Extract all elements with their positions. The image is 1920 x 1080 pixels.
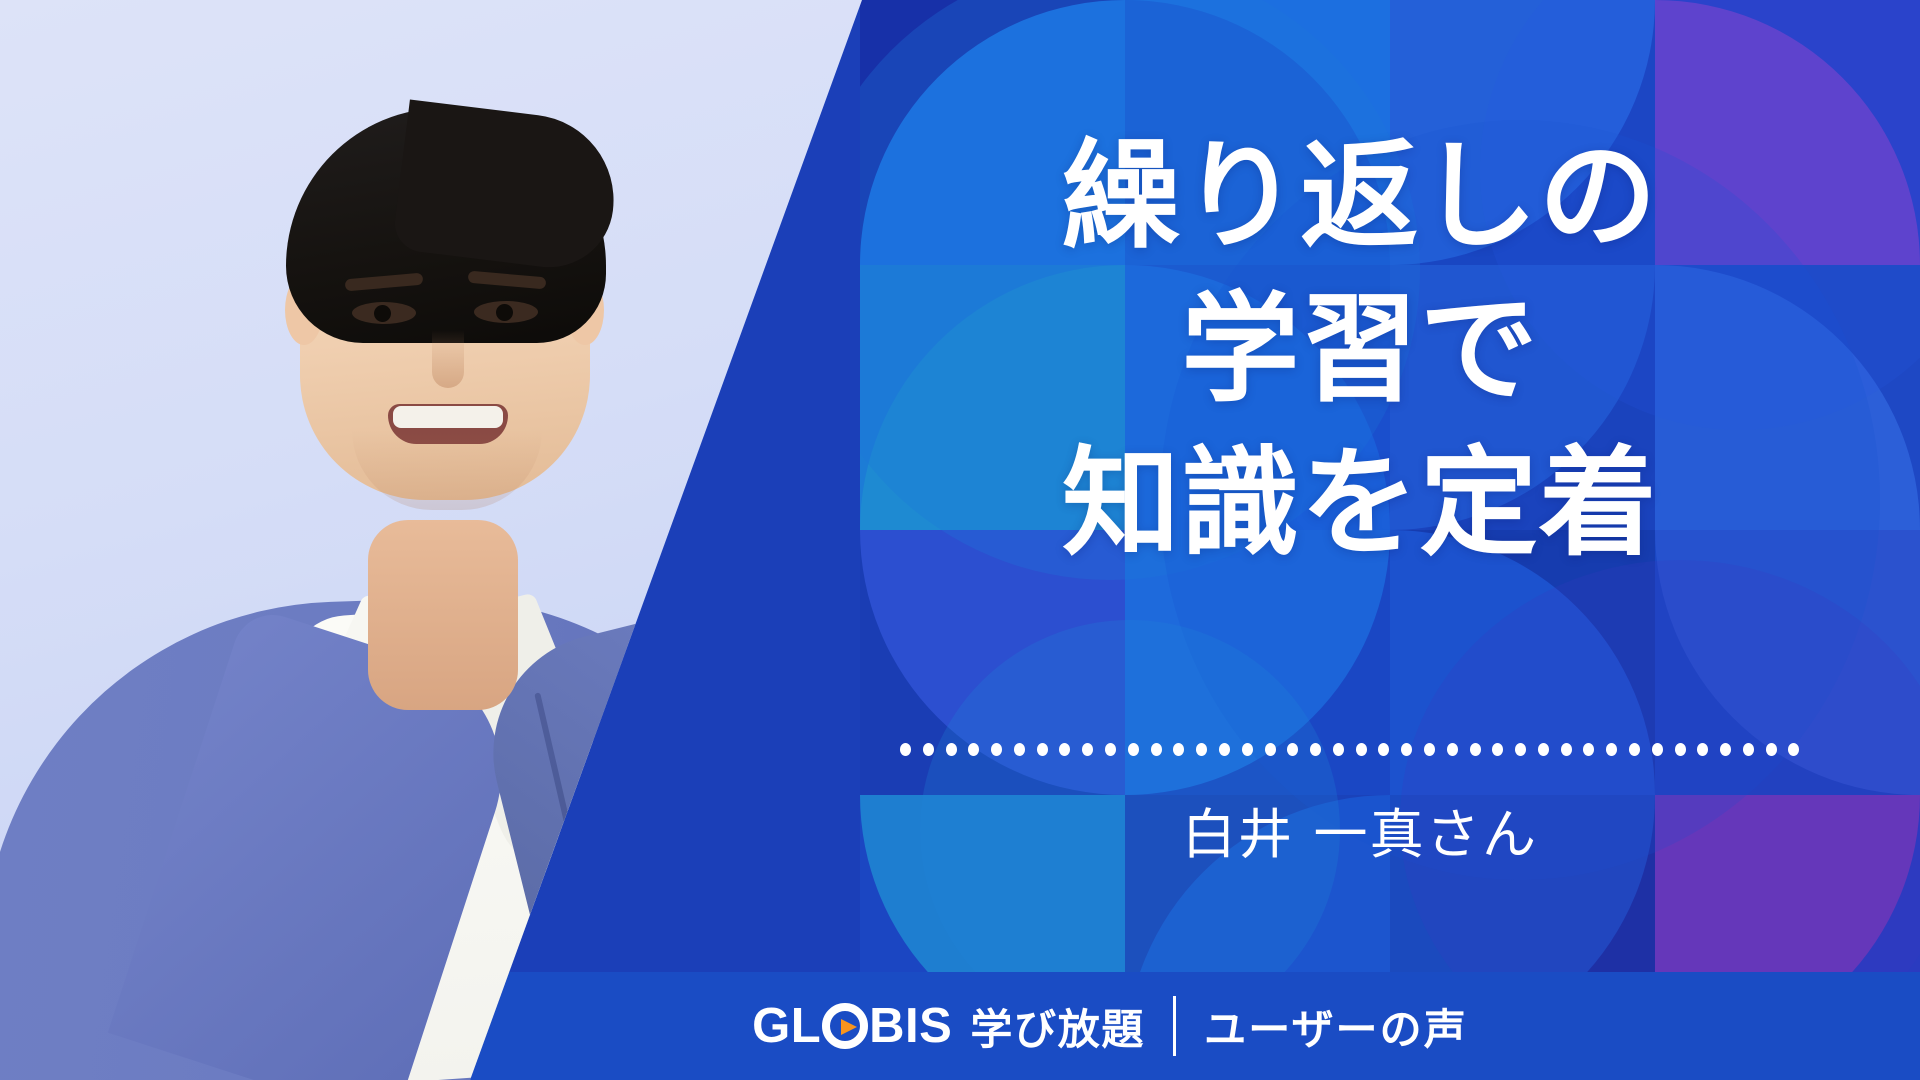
divider-dot bbox=[1606, 743, 1617, 756]
divider-dot bbox=[1219, 743, 1230, 756]
divider-dot bbox=[1515, 743, 1526, 756]
pupil-right bbox=[496, 304, 513, 321]
divider-dot bbox=[1014, 743, 1025, 756]
dotted-divider bbox=[900, 742, 1800, 756]
globis-letters-gl: GL bbox=[752, 998, 821, 1054]
divider-dot bbox=[1720, 743, 1731, 756]
globis-logo[interactable]: GL BIS 学び放題 bbox=[752, 996, 1145, 1057]
neck bbox=[368, 520, 518, 710]
divider-dot bbox=[1196, 743, 1207, 756]
hair-sweep bbox=[392, 99, 624, 274]
divider-dot bbox=[1561, 743, 1572, 756]
headline-line-2: 学習で bbox=[980, 273, 1740, 426]
person-name: 白井 一真さん bbox=[980, 790, 1740, 869]
divider-dot bbox=[1629, 743, 1640, 756]
headline-block: 繰り返しの 学習で 知識を定着 白井 一真さん bbox=[980, 0, 1740, 980]
divider-dot bbox=[1675, 743, 1686, 756]
divider-dot bbox=[1265, 743, 1276, 756]
divider-dot bbox=[1447, 743, 1458, 756]
divider-dot bbox=[1652, 743, 1663, 756]
footer-vertical-divider bbox=[1173, 996, 1176, 1056]
divider-dot bbox=[1766, 743, 1777, 756]
footer-tagline: ユーザーの声 bbox=[1204, 996, 1468, 1057]
divider-dot bbox=[1151, 743, 1162, 756]
divider-dot bbox=[1356, 743, 1367, 756]
divider-dot bbox=[1470, 743, 1481, 756]
globis-letters-bis: BIS bbox=[869, 998, 952, 1054]
banner-canvas: 繰り返しの 学習で 知識を定着 白井 一真さん GL BIS 学び放題 ユーザー… bbox=[0, 0, 1920, 1080]
divider-dot bbox=[900, 743, 911, 756]
divider-dot bbox=[968, 743, 979, 756]
divider-dot bbox=[1697, 743, 1708, 756]
divider-dot bbox=[1242, 743, 1253, 756]
pupil-left bbox=[374, 305, 391, 322]
divider-dot bbox=[1743, 743, 1754, 756]
divider-dot bbox=[991, 743, 1002, 756]
divider-dot bbox=[1333, 743, 1344, 756]
teeth bbox=[393, 406, 503, 428]
headline-line-3: 知識を定着 bbox=[980, 427, 1740, 580]
globis-jp-label: 学び放題 bbox=[970, 996, 1145, 1057]
divider-dot bbox=[1378, 743, 1389, 756]
divider-dot bbox=[1128, 743, 1139, 756]
headline: 繰り返しの 学習で 知識を定着 bbox=[980, 120, 1740, 580]
footer-content: GL BIS 学び放題 ユーザーの声 bbox=[0, 972, 1920, 1080]
divider-dot bbox=[946, 743, 957, 756]
divider-dot bbox=[1059, 743, 1070, 756]
play-button-icon bbox=[822, 1003, 868, 1049]
divider-dot bbox=[1310, 743, 1321, 756]
chin-shadow bbox=[352, 430, 542, 510]
headline-line-1: 繰り返しの bbox=[980, 120, 1740, 273]
divider-dot bbox=[923, 743, 934, 756]
divider-dot bbox=[1173, 743, 1184, 756]
divider-dot bbox=[1287, 743, 1298, 756]
globis-wordmark: GL BIS bbox=[752, 998, 952, 1054]
divider-dot bbox=[1082, 743, 1093, 756]
divider-dot bbox=[1788, 743, 1799, 756]
nose bbox=[432, 330, 464, 388]
divider-dot bbox=[1492, 743, 1503, 756]
divider-dot bbox=[1538, 743, 1549, 756]
divider-dot bbox=[1401, 743, 1412, 756]
divider-dot bbox=[1037, 743, 1048, 756]
divider-dot bbox=[1583, 743, 1594, 756]
divider-dot bbox=[1105, 743, 1116, 756]
divider-dot bbox=[1424, 743, 1435, 756]
